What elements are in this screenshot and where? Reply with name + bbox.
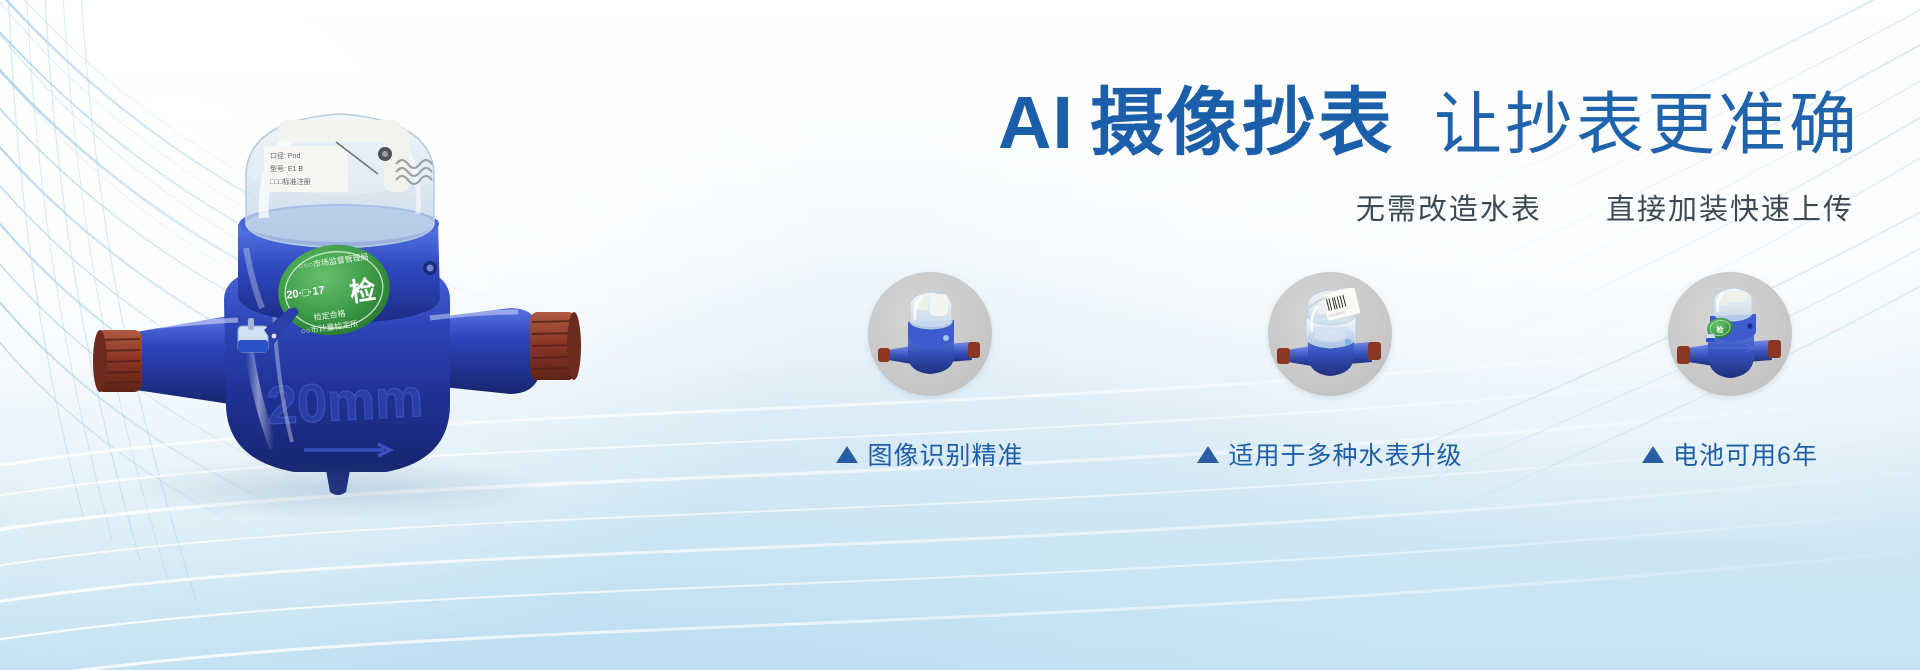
subtitle: 无需改造水表 直接加装快速上传 — [560, 186, 1900, 228]
triangle-marker-icon — [1197, 446, 1219, 463]
headline-strong: 摄像抄表 — [1090, 86, 1394, 160]
hero-shadow — [138, 460, 538, 518]
feature-item-3[interactable]: 检 电池可用6年 — [1570, 272, 1890, 532]
feature-1-label: 图像识别精准 — [867, 436, 1023, 472]
water-meter-green-seal-icon: 检 — [1672, 286, 1788, 382]
headline-brand: AI — [998, 86, 1074, 160]
svg-text:型号: E1 B: 型号: E1 B — [270, 164, 303, 173]
feature-3-caption: 电池可用6年 — [1642, 436, 1818, 472]
subtitle-right: 直接加装快速上传 — [1606, 194, 1854, 226]
headline-light: 让抄表更准确 — [1434, 91, 1860, 159]
feature-3-label: 电池可用6年 — [1673, 436, 1818, 472]
triangle-marker-icon — [1642, 446, 1664, 463]
feature-1-disc — [868, 272, 992, 396]
promo-banner: 20mm 20mm DN20 — [0, 0, 1920, 670]
feature-2-caption: 适用于多种水表升级 — [1197, 436, 1462, 472]
svg-text:检: 检 — [1717, 325, 1724, 334]
feature-thumbnail-row: 图像识别精准 — [770, 272, 1890, 532]
svg-text:口径: Pnd: 口径: Pnd — [270, 151, 300, 160]
headline: AI 摄像抄表 让抄表更准确 — [560, 86, 1900, 160]
feature-2-disc: □□□□□□□□ — [1268, 272, 1392, 396]
triangle-marker-icon — [836, 446, 858, 463]
svg-text:□□□标准注册: □□□标准注册 — [270, 177, 311, 186]
feature-item-2[interactable]: □□□□□□□□ 适用于多种水表升级 — [1170, 272, 1490, 532]
water-meter-clear-dome-icon — [874, 288, 986, 380]
svg-text:检: 检 — [348, 274, 378, 307]
feature-1-caption: 图像识别精准 — [836, 436, 1023, 472]
feature-3-disc: 检 — [1668, 272, 1792, 396]
hero-product-image: 20mm 20mm DN20 — [78, 68, 598, 538]
water-meter-white-label-icon: □□□□□□□□ — [1272, 288, 1388, 380]
subtitle-left: 无需改造水表 — [1356, 194, 1542, 226]
feature-item-1[interactable]: 图像识别精准 — [770, 272, 1090, 532]
feature-2-label: 适用于多种水表升级 — [1228, 436, 1462, 472]
copy-block: AI 摄像抄表 让抄表更准确 无需改造水表 直接加装快速上传 — [560, 86, 1900, 228]
